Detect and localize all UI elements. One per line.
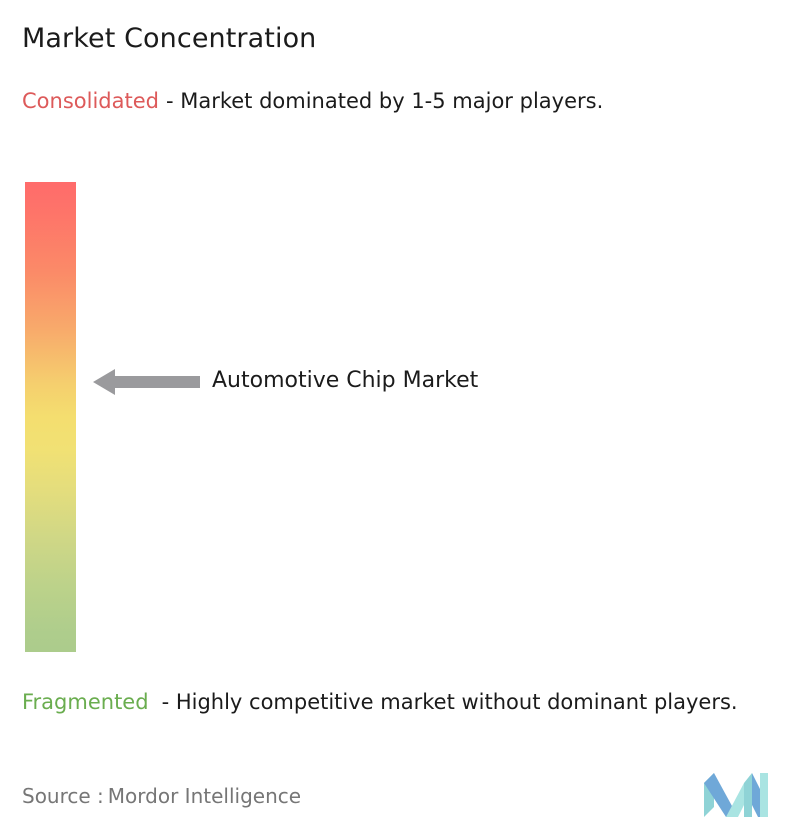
legend-consolidated: Consolidated- Market dominated by 1-5 ma… xyxy=(22,86,762,117)
mordor-intelligence-logo xyxy=(704,773,768,817)
market-concentration-figure: Market Concentration Consolidated- Marke… xyxy=(0,0,796,834)
page-title: Market Concentration xyxy=(22,22,316,56)
arrow-left-icon xyxy=(93,366,200,398)
legend-fragmented-description: - Highly competitive market without domi… xyxy=(162,690,738,714)
market-pointer-label: Automotive Chip Market xyxy=(212,367,478,397)
legend-consolidated-description: - Market dominated by 1-5 major players. xyxy=(166,89,603,113)
legend-consolidated-keyword: Consolidated xyxy=(22,89,159,113)
source-label: Source : xyxy=(22,784,104,808)
concentration-gradient-bar xyxy=(25,182,76,652)
legend-fragmented-keyword: Fragmented xyxy=(22,690,149,714)
source-credit: Source :Mordor Intelligence xyxy=(22,783,301,809)
legend-fragmented: Fragmented- Highly competitive market wi… xyxy=(22,687,784,718)
source-value: Mordor Intelligence xyxy=(108,784,301,808)
market-pointer: Automotive Chip Market xyxy=(93,364,478,400)
